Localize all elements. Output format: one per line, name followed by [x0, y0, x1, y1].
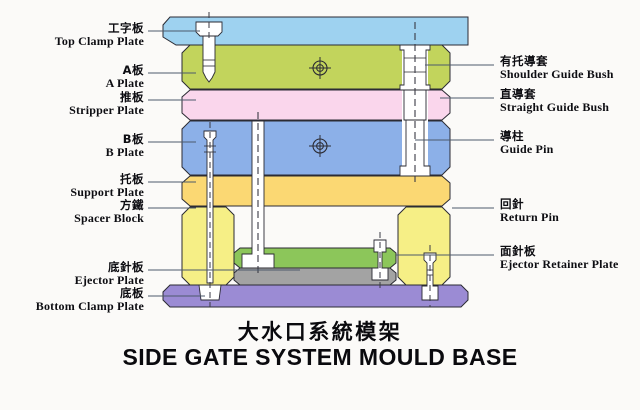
label-en: Straight Guide Bush [500, 101, 609, 115]
title-chinese: 大水口系統模架 [0, 316, 640, 346]
label-en: Ejector Retainer Plate [500, 258, 619, 272]
label-bottom-clamp-plate: 底板 Bottom Clamp Plate [36, 287, 144, 314]
title-english: SIDE GATE SYSTEM MOULD BASE [0, 344, 640, 371]
label-ejector-retainer-plate: 面針板 Ejector Retainer Plate [500, 245, 619, 272]
label-straight-guide-bush: 直導套 Straight Guide Bush [500, 88, 609, 115]
label-en: Return Pin [500, 211, 559, 225]
plate-support-plate [182, 176, 450, 206]
label-en: B Plate [106, 146, 144, 160]
label-ejector-plate: 底針板 Ejector Plate [75, 261, 144, 288]
label-shoulder-guide-bush: 有托導套 Shoulder Guide Bush [500, 55, 614, 82]
label-en: Spacer Block [74, 212, 144, 226]
label-guide-pin: 導柱 Guide Pin [500, 130, 553, 157]
cap-screw-shank-top [203, 36, 215, 82]
label-b-plate: B板 B Plate [106, 133, 144, 160]
label-en: Bottom Clamp Plate [36, 300, 144, 314]
label-en: Stripper Plate [69, 104, 144, 118]
label-support-plate: 托板 Support Plate [70, 173, 144, 200]
label-return-pin: 回針 Return Pin [500, 198, 559, 225]
label-a-plate: A板 A Plate [106, 64, 144, 91]
label-en: Top Clamp Plate [55, 35, 144, 49]
label-top-clamp-plate: 工字板 Top Clamp Plate [55, 22, 144, 49]
label-en: Shoulder Guide Bush [500, 68, 614, 82]
plate-spacer-block-right [398, 207, 450, 285]
mould-base-diagram: 工字板 Top Clamp Plate A板 A Plate 推板 Stripp… [0, 0, 640, 410]
label-en: Guide Pin [500, 143, 553, 157]
label-stripper-plate: 推板 Stripper Plate [69, 91, 144, 118]
label-en: A Plate [106, 77, 144, 91]
label-spacer-block: 方鐵 Spacer Block [74, 199, 144, 226]
